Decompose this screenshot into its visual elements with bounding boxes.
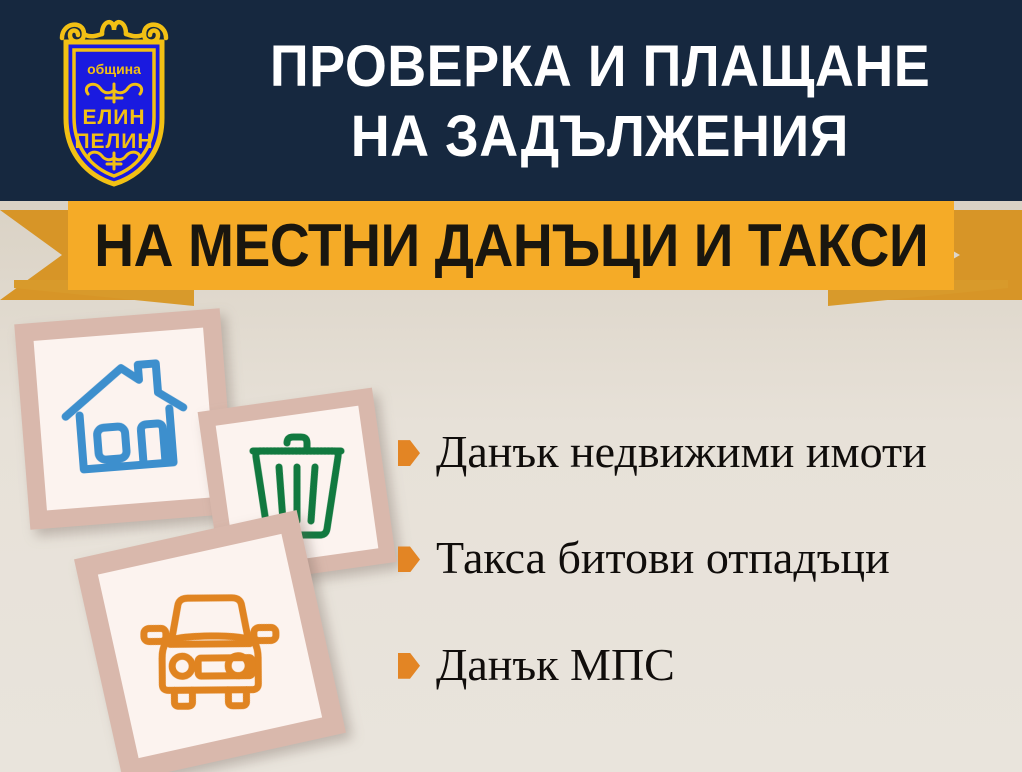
stamp-card-vehicle (74, 510, 346, 772)
crest-line1: община (87, 61, 141, 77)
header-banner: община ЕЛИН ПЕЛИН (0, 0, 1022, 201)
page-title: ПРОВЕРКА И ПЛАЩАНЕ НА ЗАДЪЛЖЕНИЯ (190, 14, 1010, 189)
list-item-label: Такса битови отпадъци (436, 534, 890, 582)
municipality-crest-icon: община ЕЛИН ПЕЛИН (44, 8, 184, 190)
bullet-arrow-icon (398, 653, 420, 679)
crest-line2: ЕЛИН (82, 106, 145, 129)
title-line-2: НА ЗАДЪЛЖЕНИЯ (351, 102, 849, 172)
title-line-1: ПРОВЕРКА И ПЛАЩАНЕ (270, 32, 930, 102)
list-item[interactable]: Данък МПС (398, 641, 1008, 689)
list-item[interactable]: Данък недвижими имоти (398, 428, 1008, 476)
ribbon-band: НА МЕСТНИ ДАНЪЦИ И ТАКСИ (68, 201, 954, 290)
list-item-label: Данък недвижими имоти (436, 428, 927, 476)
subtitle-ribbon: НА МЕСТНИ ДАНЪЦИ И ТАКСИ (0, 198, 1022, 316)
ribbon-label: НА МЕСТНИ ДАНЪЦИ И ТАКСИ (94, 211, 928, 280)
bullet-arrow-icon (398, 440, 420, 466)
list-item[interactable]: Такса битови отпадъци (398, 534, 1008, 582)
crest-line3: ПЕЛИН (74, 130, 153, 153)
bullet-arrow-icon (398, 546, 420, 572)
list-item-label: Данък МПС (436, 641, 675, 689)
tax-type-list: Данък недвижими имоти Такса битови отпад… (398, 428, 1008, 747)
poster-canvas: община ЕЛИН ПЕЛИН (0, 0, 1022, 772)
